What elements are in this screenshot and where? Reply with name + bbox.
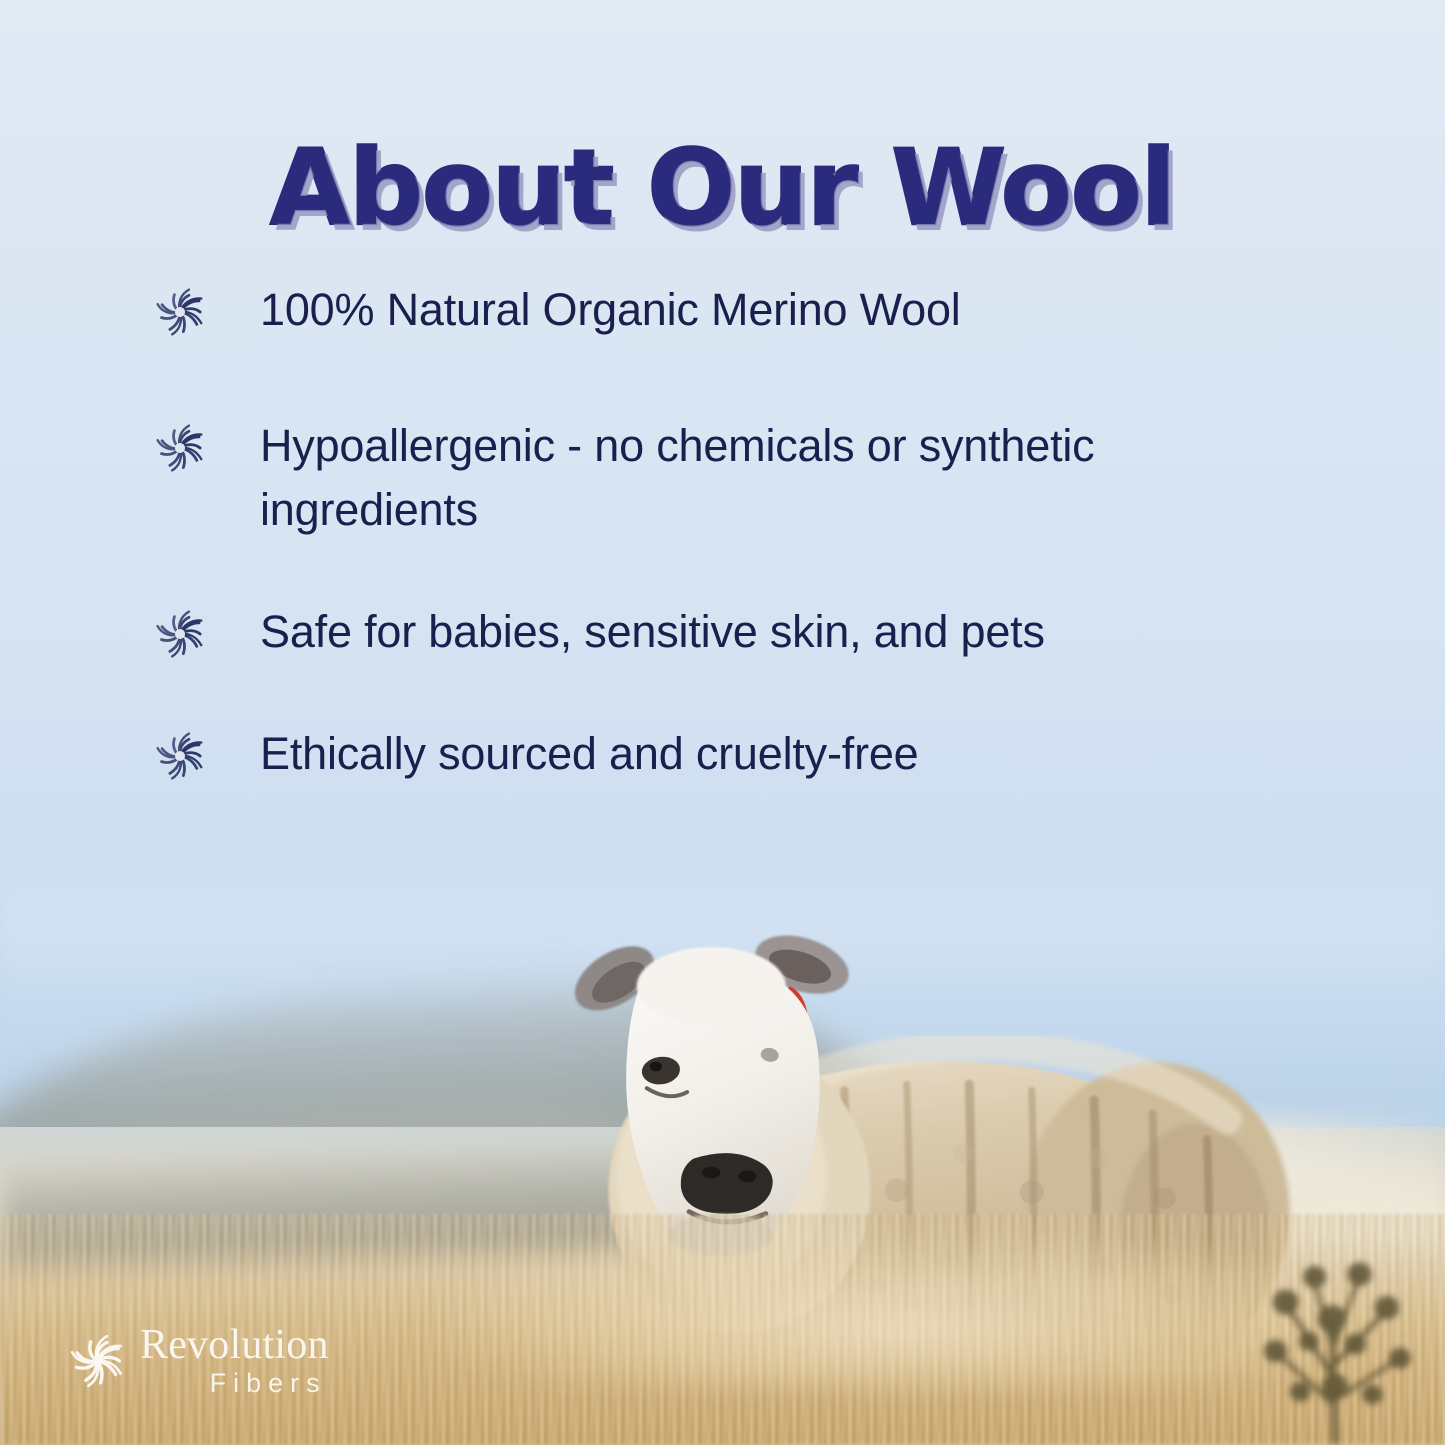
feature-list: 100% Natural Organic Merino Wool	[152, 278, 1325, 785]
list-item-label: Safe for babies, sensitive skin, and pet…	[260, 600, 1045, 664]
list-item: Safe for babies, sensitive skin, and pet…	[152, 600, 1325, 664]
brand-subname: Fibers	[210, 1370, 329, 1397]
list-item-label: Hypoallergenic - no chemicals or synthet…	[260, 414, 1260, 542]
list-item-label: Ethically sourced and cruelty-free	[260, 722, 919, 786]
page-title: About Our Wool	[0, 132, 1445, 244]
poster-canvas: About Our Wool	[0, 0, 1445, 1445]
wool-swirl-icon	[152, 728, 208, 784]
wool-swirl-icon	[152, 420, 208, 476]
wool-swirl-icon	[152, 606, 208, 662]
list-item: Ethically sourced and cruelty-free	[152, 722, 1325, 786]
thistle-bush	[1251, 1221, 1424, 1445]
list-item-label: 100% Natural Organic Merino Wool	[260, 278, 961, 342]
brand-name: Revolution	[140, 1324, 329, 1366]
brand-logo: Revolution Fibers	[66, 1324, 329, 1397]
brand-wordmark: Revolution Fibers	[140, 1324, 329, 1397]
wool-swirl-icon	[66, 1330, 128, 1392]
grass-highlight	[434, 1228, 1359, 1387]
list-item: 100% Natural Organic Merino Wool	[152, 278, 1325, 342]
wool-swirl-icon	[152, 284, 208, 340]
list-item: Hypoallergenic - no chemicals or synthet…	[152, 414, 1325, 542]
